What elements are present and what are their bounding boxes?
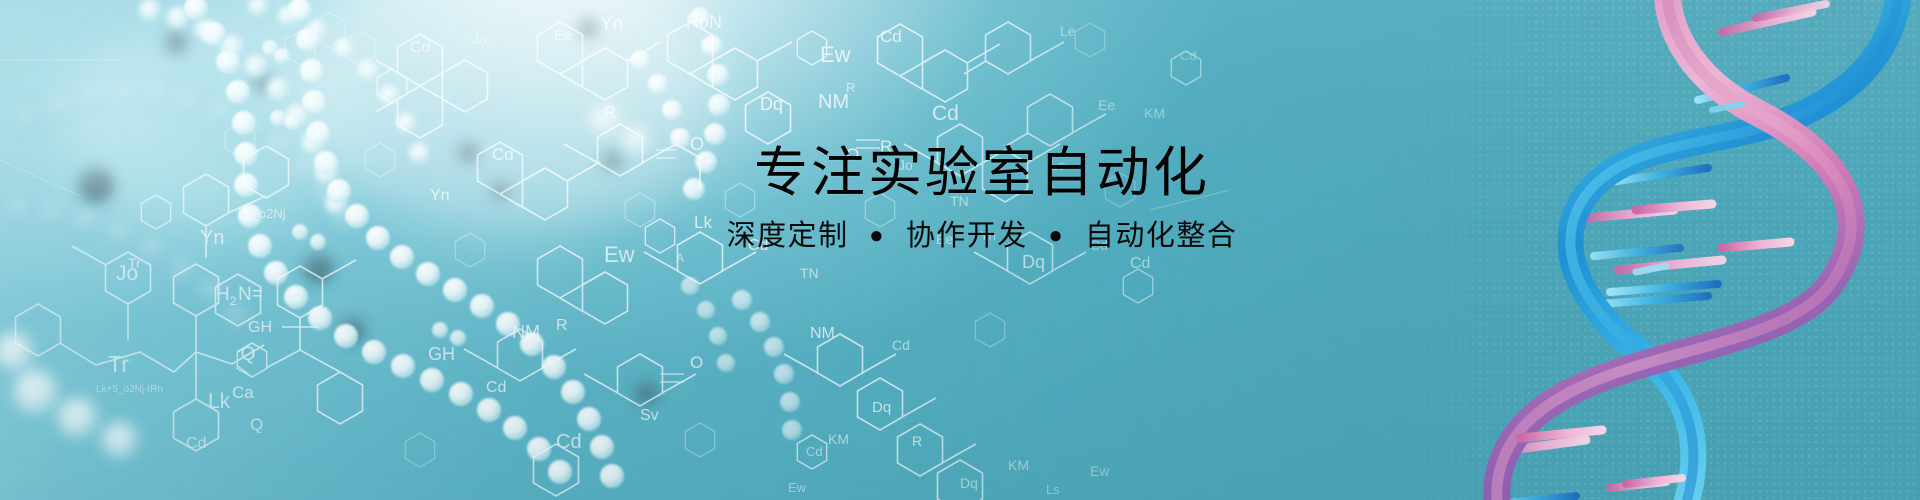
subtitle-item-1: 深度定制	[727, 220, 849, 252]
dna-helix-illustration	[1460, 0, 1920, 500]
banner-headline: 专注实验室自动化	[612, 142, 1352, 204]
subtitle-item-2: 协作开发	[906, 220, 1028, 252]
hero-banner: Tr Lk Q Lk+5_o2Nj-tRn H 2 N= GH Jo Tr Yn	[0, 0, 1920, 500]
subtitle-item-3: 自动化整合	[1085, 220, 1238, 252]
banner-subtitle: 深度定制 ● 协作开发 ● 自动化整合	[612, 218, 1352, 254]
banner-copy: 专注实验室自动化 深度定制 ● 协作开发 ● 自动化整合	[612, 142, 1352, 254]
subtitle-separator-2: ●	[1048, 218, 1064, 254]
subtitle-separator-1: ●	[869, 218, 885, 254]
